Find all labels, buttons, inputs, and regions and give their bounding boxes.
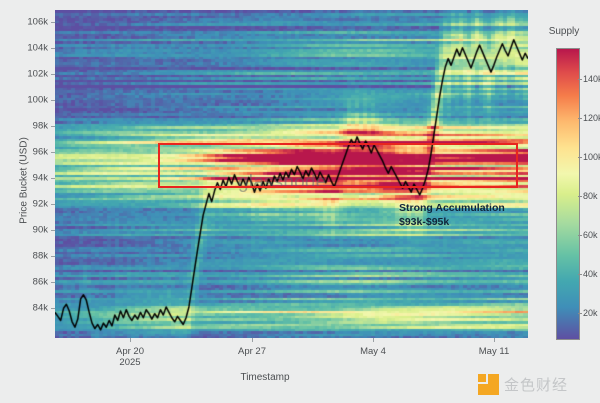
colorbar-tick-mark-3 [578,196,582,197]
colorbar-tick-label-0: 140k [583,74,600,84]
brand-name: 金色财经 [504,374,568,395]
x-tick-mark-2 [373,338,374,342]
y-tick-label-1: 104k [27,43,48,54]
y-tick-mark-9 [51,256,55,257]
colorbar-tick-label-6: 20k [583,308,598,318]
y-axis-label: Price Bucket (USD) [19,101,30,261]
y-tick-label-10: 86k [33,277,48,288]
y-tick-label-5: 96k [33,147,48,158]
y-tick-label-6: 94k [33,173,48,184]
x-axis-label: Timestamp [0,372,530,383]
x-tick-label-0: Apr 202025 [116,346,144,368]
colorbar-tick-label-4: 60k [583,230,598,240]
colorbar-title: Supply [528,26,600,37]
colorbar-tick-label-5: 40k [583,269,598,279]
strong-accumulation-annotation: Strong Accumulation $93k-$95k [399,201,505,229]
y-tick-mark-10 [51,282,55,283]
colorbar-tick-mark-5 [578,274,582,275]
y-tick-mark-8 [51,230,55,231]
colorbar-tick-label-1: 120k [583,113,600,123]
y-tick-label-2: 102k [27,69,48,80]
colorbar[interactable] [556,48,580,340]
colorbar-tick-mark-4 [578,235,582,236]
x-tick-label-2: May 4 [360,346,386,357]
y-tick-mark-6 [51,178,55,179]
y-tick-mark-2 [51,74,55,75]
y-tick-label-7: 92k [33,199,48,210]
y-tick-label-8: 90k [33,225,48,236]
glassnode-watermark: glassnode [238,172,326,194]
x-tick-label-1: Apr 27 [238,346,266,357]
y-tick-mark-3 [51,100,55,101]
annotation-line-1: Strong Accumulation [399,201,505,215]
annotation-line-2: $93k-$95k [399,215,505,229]
colorbar-tick-label-2: 100k [583,152,600,162]
y-tick-label-3: 100k [27,95,48,106]
colorbar-tick-mark-6 [578,313,582,314]
y-tick-label-9: 88k [33,251,48,262]
y-tick-mark-4 [51,126,55,127]
x-tick-mark-3 [494,338,495,342]
colorbar-tick-mark-0 [578,79,582,80]
chart-root: Price Bucket (USD) glassnode Strong Accu… [0,0,600,403]
y-tick-mark-5 [51,152,55,153]
x-tick-mark-1 [252,338,253,342]
y-tick-label-11: 84k [33,303,48,314]
x-tick-label-3: May 11 [479,346,509,357]
y-tick-mark-0 [51,22,55,23]
y-tick-mark-1 [51,48,55,49]
y-tick-label-0: 106k [27,17,48,28]
y-tick-label-4: 98k [33,121,48,132]
colorbar-tick-label-3: 80k [583,191,598,201]
colorbar-tick-mark-1 [578,118,582,119]
colorbar-tick-mark-2 [578,157,582,158]
brand-mark-icon [478,374,499,395]
y-tick-mark-11 [51,308,55,309]
brand-logo: 金色财经 [478,374,568,395]
x-tick-mark-0 [130,338,131,342]
y-tick-mark-7 [51,204,55,205]
